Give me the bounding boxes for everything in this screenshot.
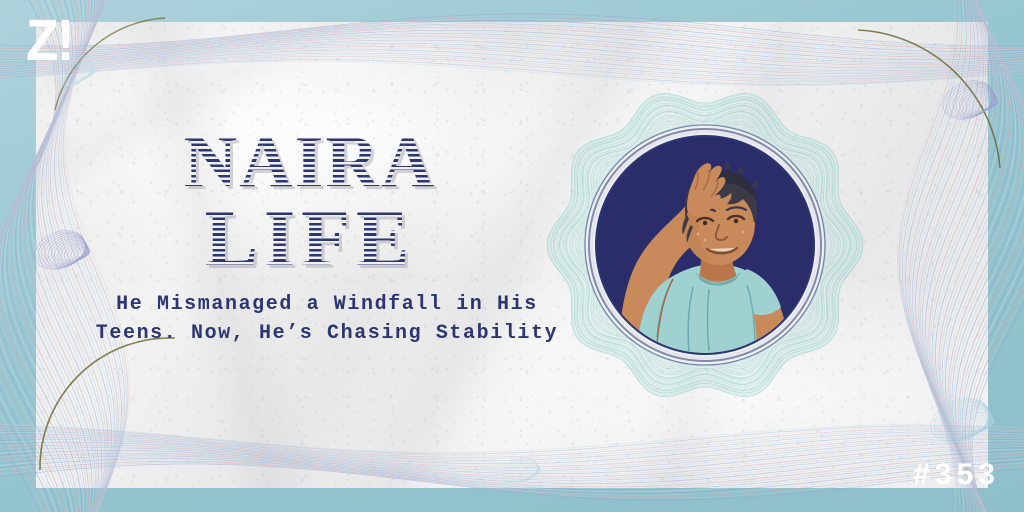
title-line-two: LIFE (100, 202, 520, 277)
magazine-cover: Z! NAIRA LIFE He Mismanaged a Windfall i… (0, 0, 1024, 512)
portrait-rosette-badge (545, 85, 865, 405)
cover-title: NAIRA LIFE (100, 128, 520, 277)
cover-subtitle: He Mismanaged a Windfall in His Teens. N… (92, 290, 562, 348)
zikoko-logo[interactable]: Z! (26, 12, 73, 70)
portrait-circle (597, 137, 813, 353)
issue-number: #353 (913, 460, 1000, 490)
portrait-illustration (597, 137, 813, 353)
title-line-one: NAIRA (100, 128, 520, 198)
